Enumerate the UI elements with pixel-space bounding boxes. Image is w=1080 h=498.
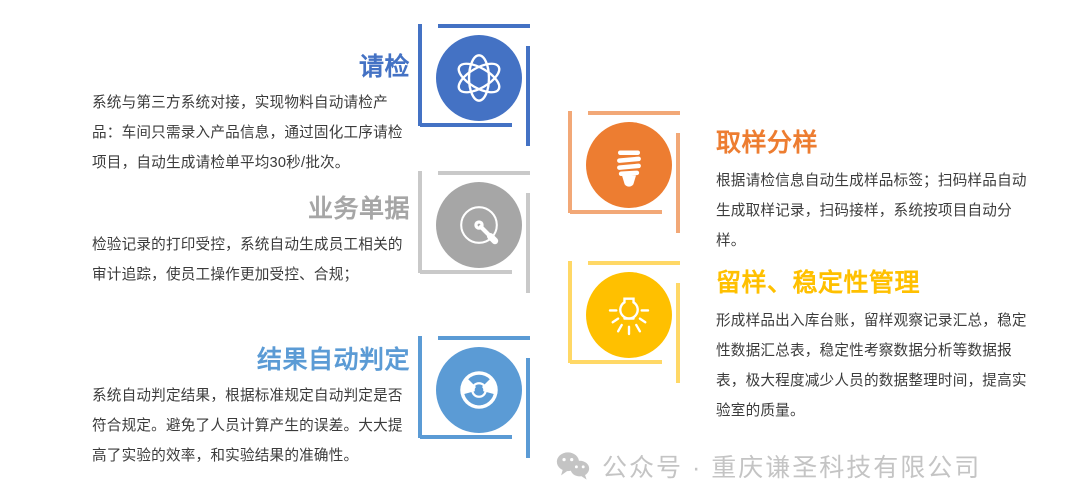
icon-tile-sun-bulb [568, 253, 686, 383]
feature-heading-liuyang: 留样、稳定性管理 [716, 268, 1036, 298]
feature-body-liuyang: 形成样品出入库台账，留样观察记录汇总，稳定性数据汇总表，稳定性考察数据分析等数据… [716, 306, 1036, 426]
frame-top-segment [588, 261, 680, 265]
feature-heading-quyangfenyang: 取样分样 [716, 128, 1034, 158]
wechat-icon [556, 451, 590, 481]
frame-top-segment [438, 171, 530, 175]
feature-heading-yewudanju: 业务单据 [92, 194, 410, 224]
feature-block-liuyang: 留样、稳定性管理 形成样品出入库台账，留样观察记录汇总，稳定性数据汇总表，稳定性… [716, 268, 1036, 426]
radiation-icon [436, 347, 522, 433]
feature-body-jieguopanding: 系统自动判定结果，根据标准规定自动判定是否符合规定。避免了人员计算产生的误差。大… [92, 381, 410, 471]
watermark-footer: 公众号 · 重庆谦圣科技有限公司 [556, 448, 981, 484]
sun-bulb-icon [586, 272, 672, 358]
feature-block-qingjian: 请检 系统与第三方系统对接，实现物料自动请检产品：车间只需录入产品信息，通过固化… [92, 52, 410, 178]
frame-right-segment [676, 133, 680, 233]
frame-top-segment [438, 24, 530, 28]
frame-left-segment [418, 336, 422, 438]
frame-right-segment [526, 193, 530, 293]
frame-right-segment [526, 46, 530, 146]
frame-bottom-segment [420, 270, 512, 274]
infographic-canvas: 请检 系统与第三方系统对接，实现物料自动请检产品：车间只需录入产品信息，通过固化… [0, 0, 1080, 498]
frame-left-segment [568, 111, 572, 213]
feature-block-jieguopanding: 结果自动判定 系统自动判定结果，根据标准规定自动判定是否符合规定。避免了人员计算… [92, 345, 410, 471]
feature-heading-qingjian: 请检 [92, 52, 410, 82]
feature-body-yewudanju: 检验记录的打印受控，系统自动生成员工相关的审计追踪，使员工操作更加受控、合规； [92, 230, 410, 290]
frame-right-segment [526, 358, 530, 458]
frame-right-segment [676, 283, 680, 383]
icon-tile-cfl-bulb [568, 103, 686, 233]
feature-heading-jieguopanding: 结果自动判定 [92, 345, 410, 375]
watermark-text: 公众号 · 重庆谦圣科技有限公司 [602, 448, 981, 484]
feature-body-qingjian: 系统与第三方系统对接，实现物料自动请检产品：车间只需录入产品信息，通过固化工序请… [92, 88, 410, 178]
frame-bottom-segment [420, 123, 512, 127]
frame-left-segment [568, 261, 572, 363]
atom-icon [436, 35, 522, 121]
feature-block-yewudanju: 业务单据 检验记录的打印受控，系统自动生成员工相关的审计追踪，使员工操作更加受控… [92, 194, 410, 290]
frame-bottom-segment [570, 210, 662, 214]
frame-top-segment [588, 111, 680, 115]
frame-left-segment [418, 24, 422, 126]
icon-tile-record-disc [418, 163, 536, 293]
icon-tile-atom [418, 16, 536, 146]
frame-bottom-segment [570, 360, 662, 364]
record-disc-icon [436, 182, 522, 268]
frame-left-segment [418, 171, 422, 273]
frame-top-segment [438, 336, 530, 340]
icon-tile-radiation [418, 328, 536, 458]
feature-block-quyangfenyang: 取样分样 根据请检信息自动生成样品标签；扫码样品自动生成取样记录，扫码接样，系统… [716, 128, 1034, 256]
cfl-bulb-icon [586, 122, 672, 208]
frame-bottom-segment [420, 435, 512, 439]
feature-body-quyangfenyang: 根据请检信息自动生成样品标签；扫码样品自动生成取样记录，扫码接样，系统按项目自动… [716, 166, 1034, 256]
